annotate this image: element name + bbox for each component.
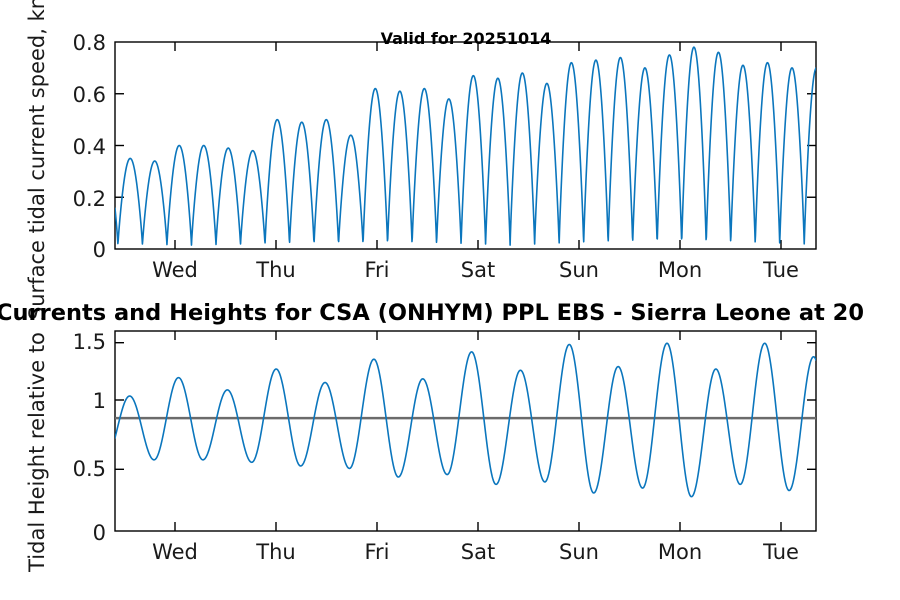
top-plot-title: Valid for 20251014 <box>381 29 552 48</box>
main-title: Currents and Heights for CSA (ONHYM) PPL… <box>0 300 864 326</box>
top-xtick-thu: Thu <box>255 258 295 282</box>
bottom-xtick-tue: Tue <box>762 540 799 564</box>
figure-canvas: Valid for 20251014 Surface tidal current… <box>0 0 900 600</box>
bottom-xtick-mon: Mon <box>658 540 702 564</box>
top-xtick-sun: Sun <box>559 258 599 282</box>
top-xtick-fri: Fri <box>364 258 389 282</box>
bottom-xtick-thu: Thu <box>255 540 295 564</box>
bottom-y-tick-labels: 1.5 1 0.5 0 <box>73 330 106 545</box>
top-ytick-0.2: 0.2 <box>73 187 106 211</box>
current-speed-curve <box>115 47 816 245</box>
top-ytick-0: 0 <box>93 238 106 262</box>
top-ytick-0.4: 0.4 <box>73 135 106 159</box>
bottom-x-ticks <box>175 331 781 531</box>
top-y-tick-labels: 0.8 0.6 0.4 0.2 0 <box>73 31 106 262</box>
bottom-ytick-0.5: 0.5 <box>73 457 106 481</box>
top-xtick-wed: Wed <box>152 258 198 282</box>
panel-tidal-height: Tidal Height relative to 1.5 1 0.5 0 <box>25 330 816 573</box>
top-ytick-0.8: 0.8 <box>73 31 106 55</box>
top-xtick-sat: Sat <box>461 258 495 282</box>
panel-current-speed: Valid for 20251014 Surface tidal current… <box>25 0 816 320</box>
bottom-ytick-1: 1 <box>93 389 106 413</box>
top-xtick-tue: Tue <box>762 258 799 282</box>
bottom-ytick-1.5: 1.5 <box>73 330 106 354</box>
top-x-tick-labels: Wed Thu Fri Sat Sun Mon Tue <box>152 258 799 282</box>
top-xtick-mon: Mon <box>658 258 702 282</box>
top-ytick-0.6: 0.6 <box>73 83 106 107</box>
bottom-xtick-wed: Wed <box>152 540 198 564</box>
bottom-ytick-0: 0 <box>93 521 106 545</box>
tidal-figure: Valid for 20251014 Surface tidal current… <box>0 0 900 600</box>
tidal-height-curve <box>115 343 816 496</box>
bottom-x-tick-labels: Wed Thu Fri Sat Sun Mon Tue <box>152 540 799 564</box>
bottom-y-axis-label: Tidal Height relative to <box>25 332 49 573</box>
bottom-xtick-sun: Sun <box>559 540 599 564</box>
top-y-axis-label: Surface tidal current speed, kn <box>25 0 49 320</box>
bottom-xtick-sat: Sat <box>461 540 495 564</box>
bottom-plot-box <box>115 331 816 531</box>
bottom-xtick-fri: Fri <box>364 540 389 564</box>
